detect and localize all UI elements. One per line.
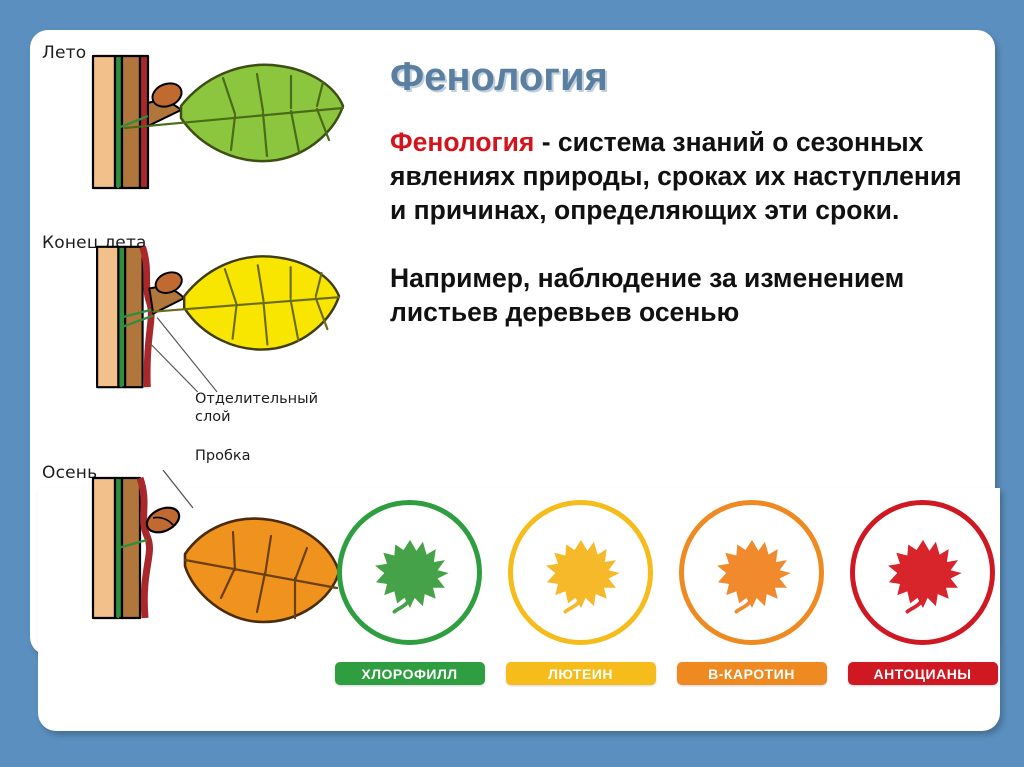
callout-cork-layer: Пробка [195, 447, 251, 465]
pigment-label-carotene: В-КАРОТИН [677, 662, 827, 685]
season-label-summer: Лето [42, 43, 86, 63]
leaf-icon [706, 527, 798, 619]
callout-abscission-layer: Отделительный слой [195, 390, 335, 426]
leaf-abscission-figure: Лето Конец лета Осень [30, 30, 375, 655]
example-paragraph: Например, наблюдение за изменением листь… [390, 262, 980, 330]
pigment-item-lutein[interactable]: ЛЮТЕИН [503, 500, 658, 685]
leaf-icon [877, 527, 969, 619]
term-highlight: Фенология [390, 127, 534, 157]
definition-paragraph: Фенология - система знаний о сезонных яв… [390, 126, 980, 228]
pigment-circle-carotene [679, 500, 824, 645]
pigment-label-anthocyanins: АНТОЦИАНЫ [848, 662, 998, 685]
pigment-label-lutein: ЛЮТЕИН [506, 662, 656, 685]
pigment-circle-anthocyanins [850, 500, 995, 645]
pigment-label-chlorophyll: ХЛОРОФИЛЛ [335, 662, 485, 685]
slide-canvas: Лето Конец лета Осень [0, 0, 1024, 767]
content-column: Фенология Фенология - система знаний о с… [390, 55, 980, 330]
leaf-icon [535, 527, 627, 619]
diagram-summer [85, 48, 355, 223]
pigment-circle-chlorophyll [337, 500, 482, 645]
diagram-late-summer [85, 242, 355, 392]
page-title: Фенология [390, 55, 980, 100]
pigment-item-anthocyanins[interactable]: АНТОЦИАНЫ [845, 500, 1000, 685]
pigment-item-carotene[interactable]: В-КАРОТИН [674, 500, 829, 685]
pigment-circle-lutein [508, 500, 653, 645]
pigment-legend: ХЛОРОФИЛЛ ЛЮТЕИН В-КАРОТИН [332, 500, 1000, 700]
leaf-icon [364, 527, 456, 619]
pigment-item-chlorophyll[interactable]: ХЛОРОФИЛЛ [332, 500, 487, 685]
diagram-autumn [85, 470, 355, 655]
